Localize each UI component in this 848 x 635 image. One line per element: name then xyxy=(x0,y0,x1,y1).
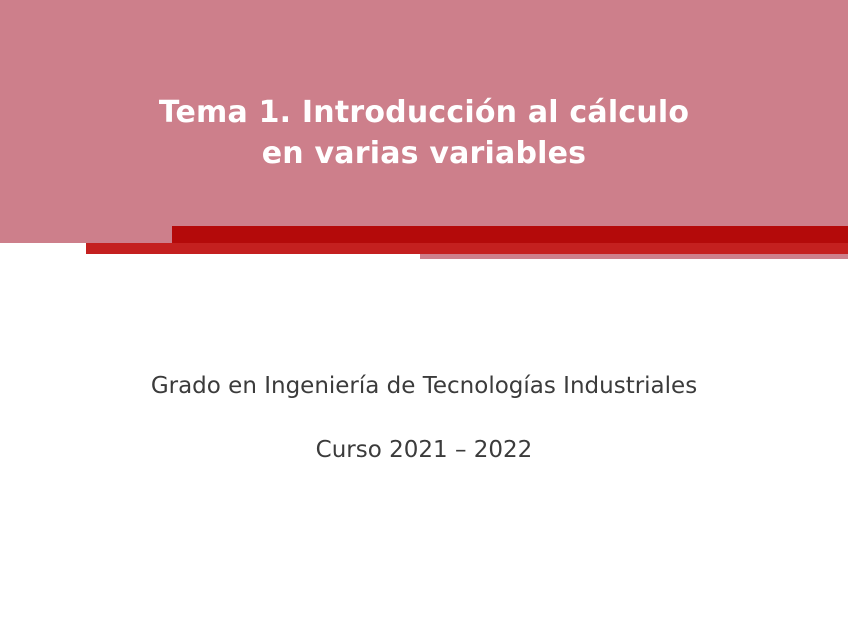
degree-name: Grado en Ingeniería de Tecnologías Indus… xyxy=(40,371,808,401)
decoration-bar-dark-red xyxy=(172,226,848,243)
title-header-band: Tema 1. Introducción al cálculo en varia… xyxy=(0,0,848,243)
subtitle-block: Grado en Ingeniería de Tecnologías Indus… xyxy=(0,371,848,465)
decoration-bar-mid-red xyxy=(86,243,848,254)
title-line-2: en varias variables xyxy=(40,133,808,174)
title-line-1: Tema 1. Introducción al cálculo xyxy=(40,92,808,133)
slide-body: Grado en Ingeniería de Tecnologías Indus… xyxy=(0,259,848,635)
course-year: Curso 2021 – 2022 xyxy=(40,435,808,465)
title-slide: Tema 1. Introducción al cálculo en varia… xyxy=(0,0,848,635)
title-block: Tema 1. Introducción al cálculo en varia… xyxy=(0,92,848,174)
